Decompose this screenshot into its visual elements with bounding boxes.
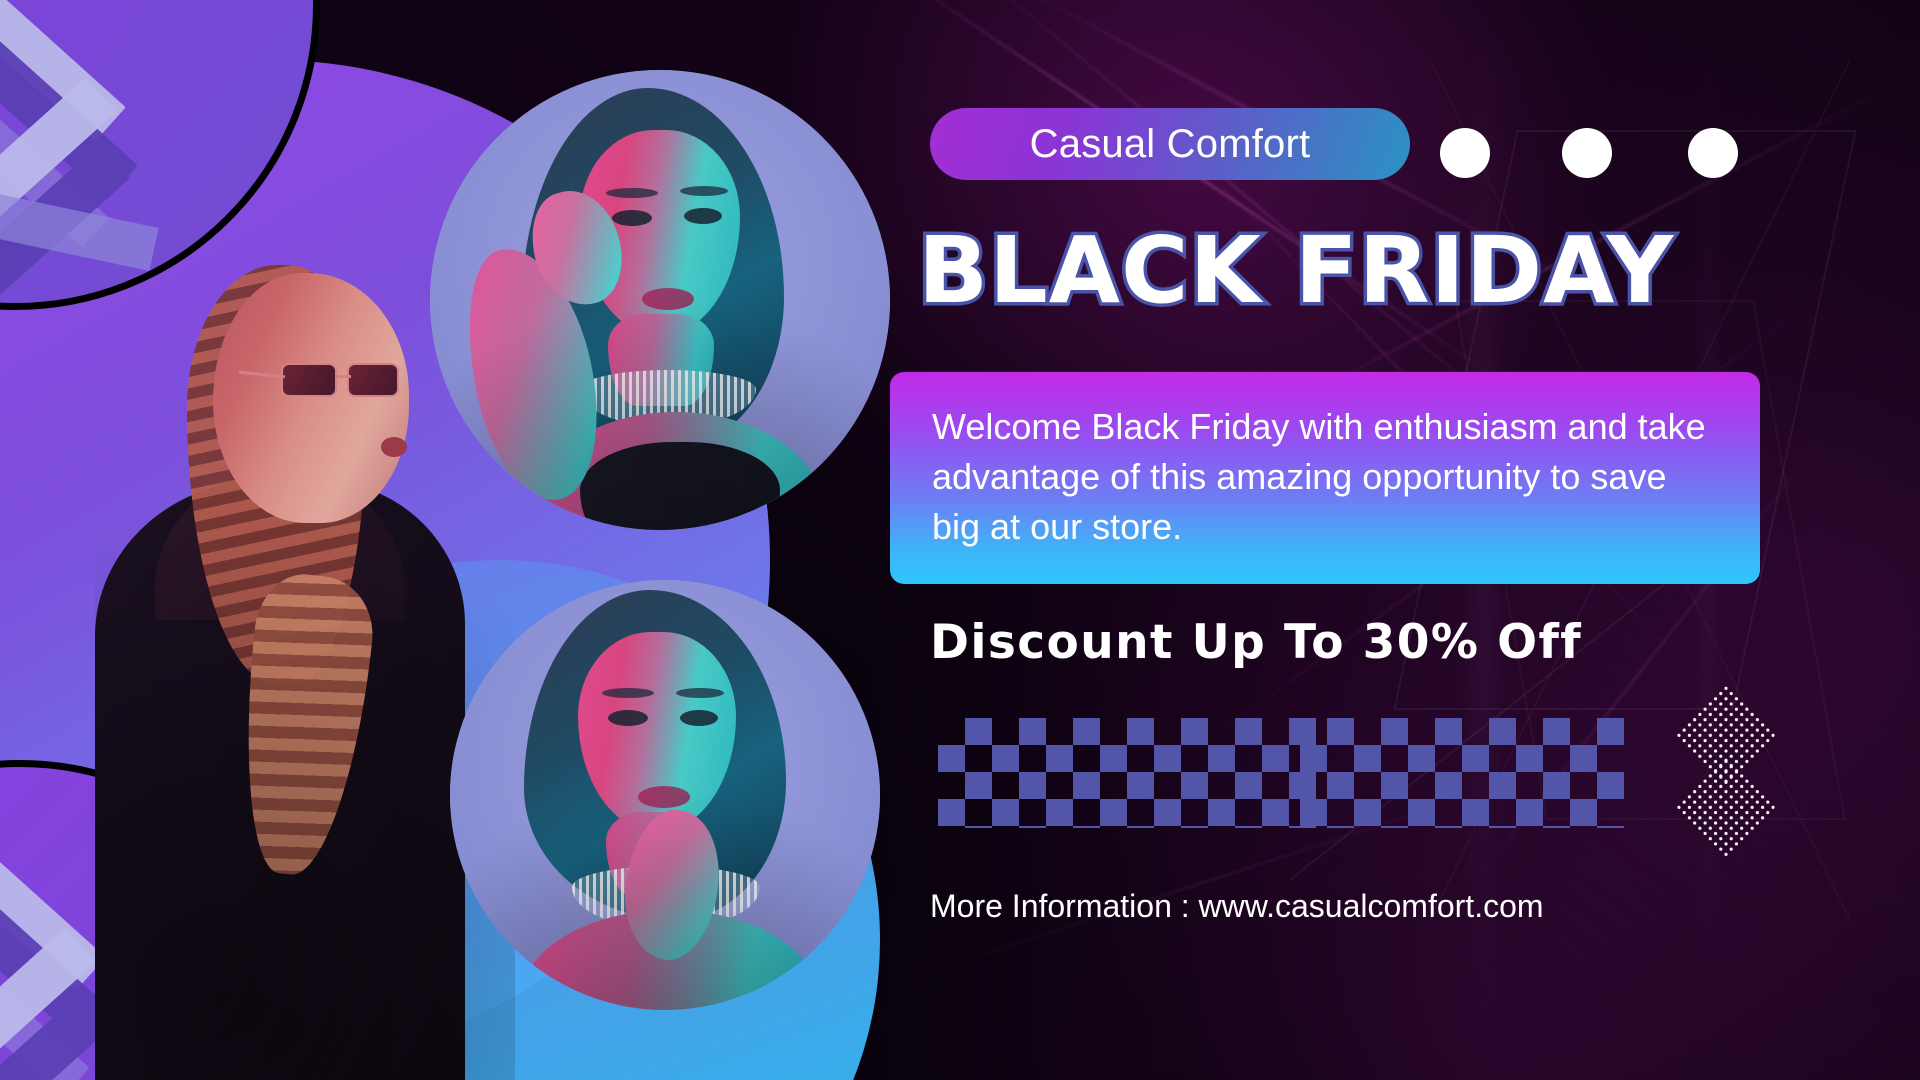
description-text: Welcome Black Friday with enthusiasm and…	[932, 402, 1720, 552]
page-title: BLACK FRIDAY	[918, 222, 1848, 320]
more-information-text: More Information : www.casualcomfort.com	[930, 888, 1870, 932]
checkerboard-pattern	[938, 718, 1316, 828]
black-friday-promo-banner: Casual Comfort BLACK FRIDAY Welcome Blac…	[0, 0, 1920, 1080]
description-panel: Welcome Black Friday with enthusiasm and…	[890, 372, 1760, 584]
dot-icon	[1562, 128, 1612, 178]
brand-badge-label: Casual Comfort	[1030, 122, 1311, 167]
checkerboard-pattern	[1300, 718, 1624, 828]
dotted-diamond-motif	[1680, 700, 1772, 840]
decorative-dots	[1440, 128, 1740, 180]
dot-icon	[1688, 128, 1738, 178]
promo-content: Casual Comfort BLACK FRIDAY Welcome Blac…	[0, 0, 1920, 1080]
diamond-icon	[1675, 755, 1777, 857]
discount-headline: Discount Up To 30% Off	[930, 615, 1870, 675]
dot-icon	[1440, 128, 1490, 178]
brand-badge: Casual Comfort	[930, 108, 1410, 180]
